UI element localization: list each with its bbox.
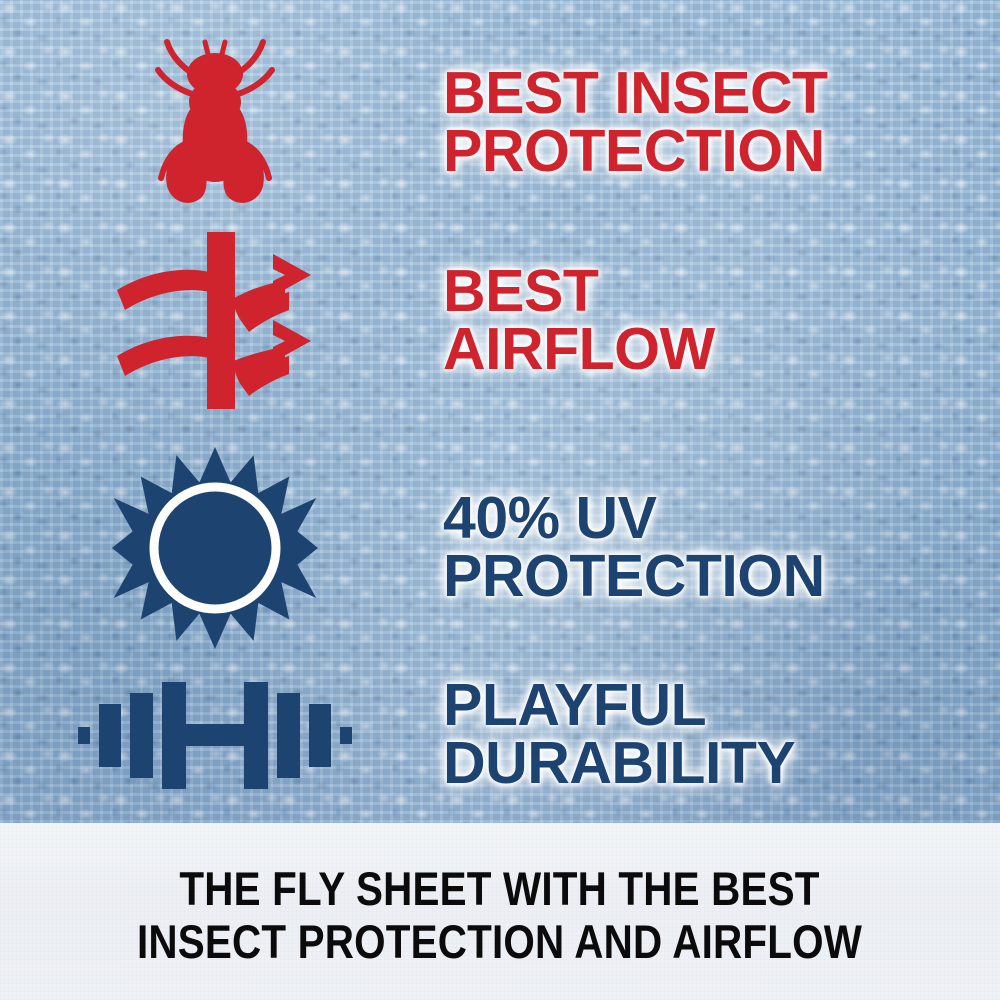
feature-label-insect-protection: BEST INSECT PROTECTION xyxy=(443,65,1000,181)
feature-label-durability: PLAYFUL DURABILITY xyxy=(443,677,1000,793)
feature-icon-cell xyxy=(0,445,430,651)
airflow-arrows-icon xyxy=(113,228,318,413)
caption-band: THE FLY SHEET WITH THE BEST INSECT PROTE… xyxy=(0,823,1000,1000)
fly-icon xyxy=(145,36,285,211)
dumbbell-icon xyxy=(78,676,352,794)
feature-icon-cell xyxy=(0,676,430,794)
feature-text-cell: BEST AIRFLOW xyxy=(430,263,1000,379)
feature-row-uv-protection: 40% UV PROTECTION xyxy=(0,440,1000,655)
feature-text-cell: PLAYFUL DURABILITY xyxy=(430,677,1000,793)
caption-text: THE FLY SHEET WITH THE BEST INSECT PROTE… xyxy=(137,855,862,968)
feature-icon-cell xyxy=(0,228,430,413)
feature-row-insect-protection: BEST INSECT PROTECTION xyxy=(0,38,1000,208)
infographic-poster: BEST INSECT PROTECTION xyxy=(0,0,1000,1000)
feature-text-cell: BEST INSECT PROTECTION xyxy=(430,65,1000,181)
feature-row-airflow: BEST AIRFLOW xyxy=(0,228,1000,413)
feature-icon-cell xyxy=(0,36,430,211)
feature-text-cell: 40% UV PROTECTION xyxy=(430,490,1000,606)
feature-label-uv-protection: 40% UV PROTECTION xyxy=(443,490,1000,606)
feature-row-durability: PLAYFUL DURABILITY xyxy=(0,655,1000,815)
sun-icon xyxy=(112,445,318,651)
feature-label-airflow: BEST AIRFLOW xyxy=(443,263,1000,379)
